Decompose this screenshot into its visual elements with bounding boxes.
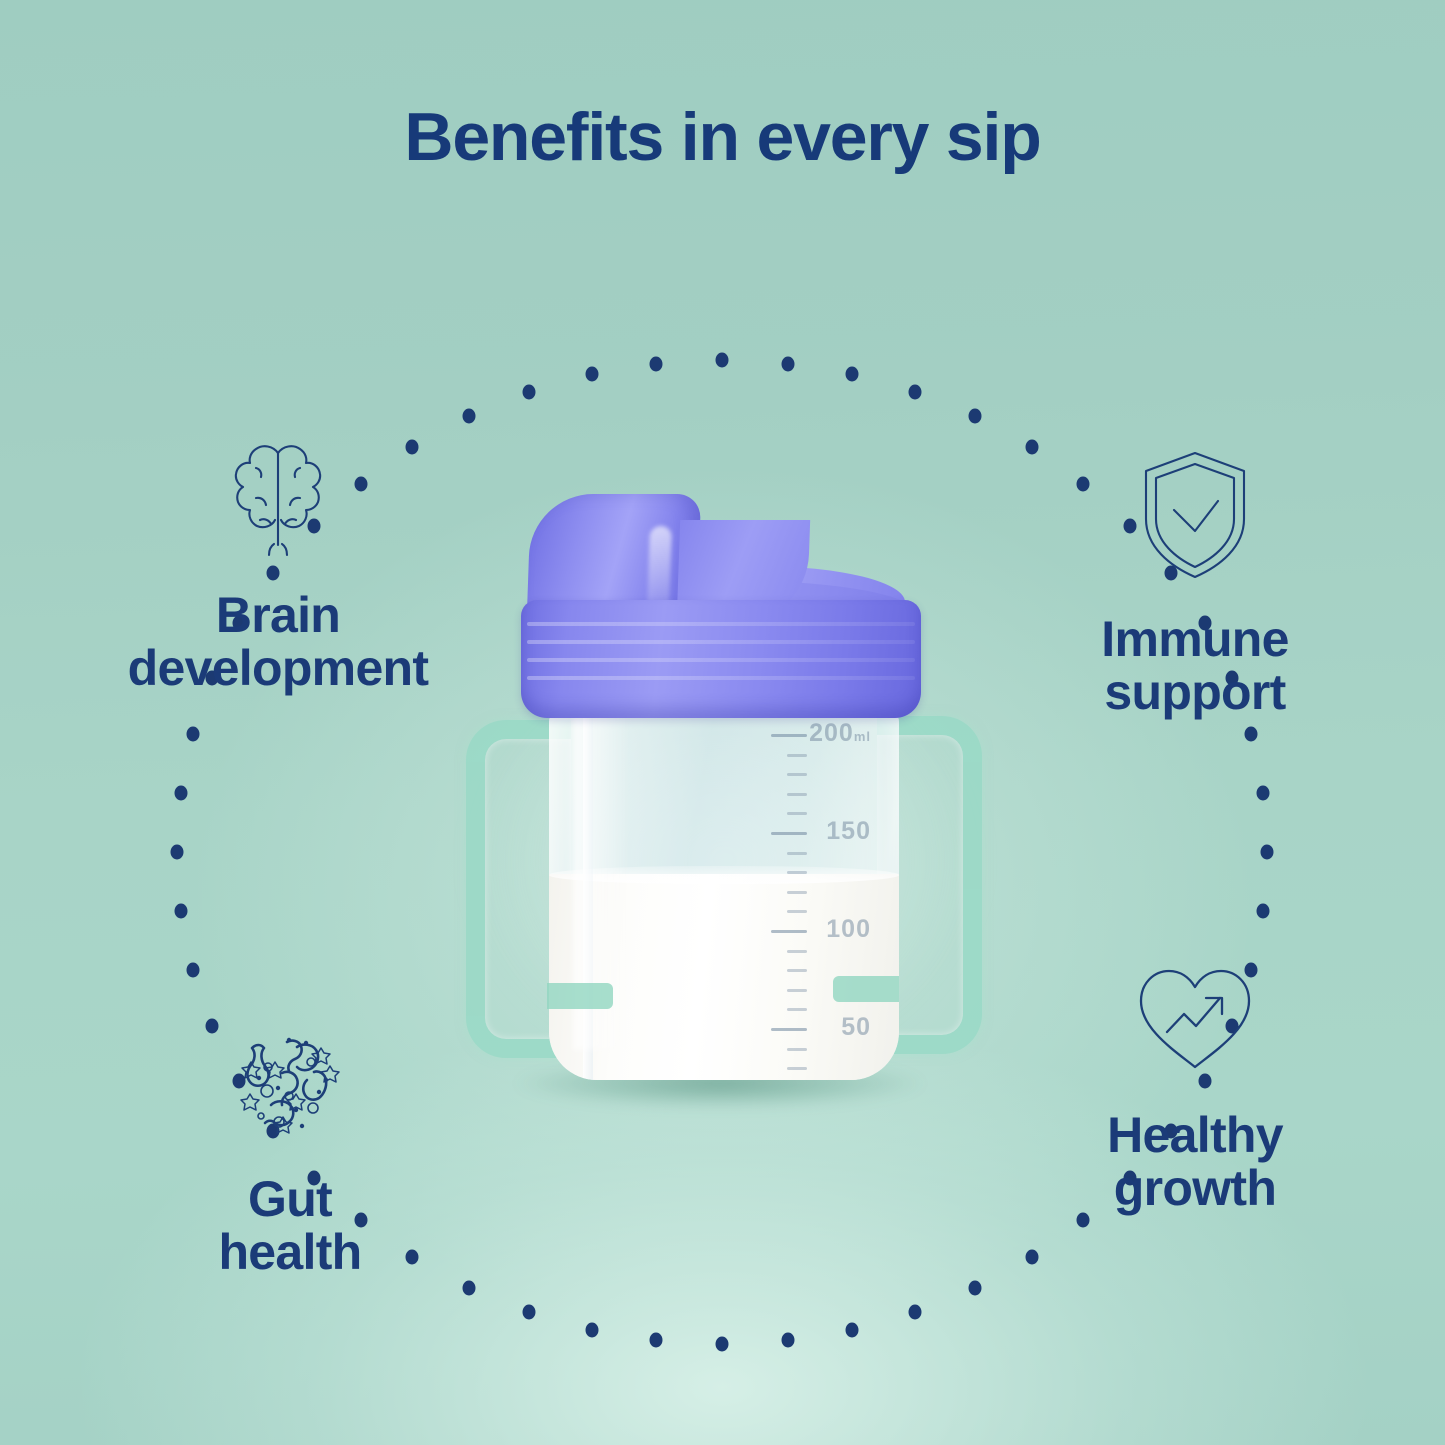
circle-dot: [585, 1322, 598, 1337]
benefit-label: Gut health: [218, 1171, 361, 1280]
shield-check-icon: [960, 448, 1430, 587]
scale-tick-minor: [787, 852, 807, 855]
scale-value: 200ml: [809, 719, 871, 748]
benefit-label: Brain development: [128, 587, 429, 696]
scale-tick-minor: [787, 754, 807, 757]
scale-tick-major: [771, 734, 807, 737]
scale-tick-minor: [787, 773, 807, 776]
circle-dot: [522, 1305, 535, 1320]
circle-dot: [174, 904, 187, 919]
scale-tick-minor: [787, 1067, 807, 1070]
circle-dot: [462, 409, 475, 424]
circle-dot: [1025, 1249, 1038, 1264]
circle-dot: [186, 727, 199, 742]
circle-dot: [716, 353, 729, 368]
scale-tick-major: [771, 832, 807, 835]
circle-dot: [716, 1337, 729, 1352]
heart-growth-icon: [955, 960, 1435, 1083]
scale-tick-minor: [787, 910, 807, 913]
scale-value: 50: [841, 1013, 871, 1042]
scale-value: 100: [826, 915, 871, 944]
scale-tick-minor: [787, 1048, 807, 1051]
circle-dot: [585, 367, 598, 382]
benefit-label: Immune support: [1101, 611, 1289, 720]
cup-spout: [527, 494, 701, 614]
circle-dot: [909, 1305, 922, 1320]
circle-dot: [781, 356, 794, 371]
benefit-gut-health: Gut health: [60, 1018, 520, 1279]
benefit-healthy-growth: Healthy growth: [955, 960, 1435, 1215]
cup-body: 200ml15010050: [549, 708, 899, 1080]
circle-dot: [846, 1322, 859, 1337]
measurement-scale: 200ml15010050: [753, 722, 873, 1052]
circle-dot: [846, 367, 859, 382]
scale-tick-minor: [787, 891, 807, 894]
circle-dot: [1257, 904, 1270, 919]
circle-dot: [781, 1333, 794, 1348]
circle-dot: [171, 845, 184, 860]
circle-dot: [650, 1333, 663, 1348]
cup-handle-tab-left: [547, 983, 613, 1009]
scale-tick-major: [771, 930, 807, 933]
scale-tick-minor: [787, 793, 807, 796]
scale-tick-minor: [787, 871, 807, 874]
scale-tick-minor: [787, 950, 807, 953]
circle-dot: [1077, 1213, 1090, 1228]
circle-dot: [1261, 845, 1274, 860]
infographic-canvas: Benefits in every sip 200ml15010050: [0, 0, 1445, 1445]
brain-icon: [38, 440, 518, 563]
circle-dot: [650, 356, 663, 371]
circle-dot: [186, 962, 199, 977]
scale-tick-minor: [787, 969, 807, 972]
benefit-brain-development: Brain development: [38, 440, 518, 695]
product-image-sippy-cup: 200ml15010050: [437, 470, 1007, 1110]
benefit-immune-support: Immune support: [960, 448, 1430, 719]
scale-tick-major: [771, 1028, 807, 1031]
probiotics-icon: [60, 1018, 520, 1147]
scale-value: 150: [826, 817, 871, 846]
page-title: Benefits in every sip: [0, 103, 1445, 171]
cup-lid-collar: [521, 600, 921, 718]
scale-tick-minor: [787, 812, 807, 815]
circle-dot: [522, 384, 535, 399]
circle-dot: [909, 384, 922, 399]
circle-dot: [969, 409, 982, 424]
circle-dot: [174, 785, 187, 800]
cup-handle-tab-right: [833, 976, 899, 1002]
scale-tick-minor: [787, 1008, 807, 1011]
benefit-label: Healthy growth: [1107, 1107, 1283, 1216]
circle-dot: [969, 1280, 982, 1295]
circle-dot: [1257, 785, 1270, 800]
circle-dot: [1245, 727, 1258, 742]
circle-dot: [462, 1280, 475, 1295]
scale-tick-minor: [787, 989, 807, 992]
